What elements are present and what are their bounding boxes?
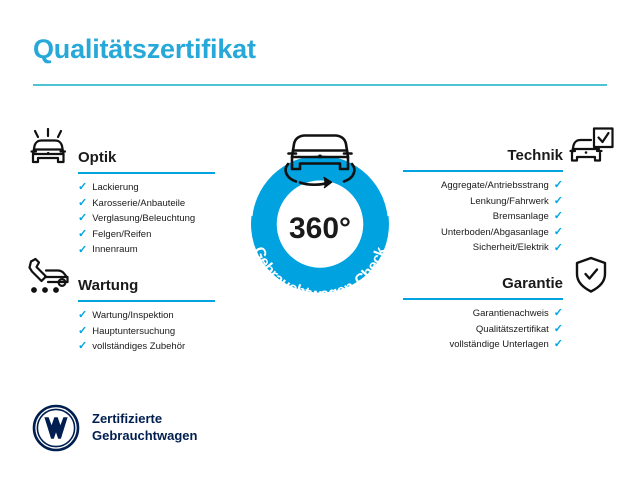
section-garantie-list: Garantienachweis✓ Qualitätszertifikat✓ v… — [415, 306, 615, 353]
list-item-label: Lenkung/Fahrwerk — [470, 197, 549, 207]
check-icon: ✓ — [554, 196, 563, 207]
check-icon: ✓ — [554, 308, 563, 319]
quality-certificate-page: Qualitätszertifikat Optik — [0, 0, 640, 480]
list-item-label: Garantienachweis — [473, 309, 549, 319]
section-optik-title: Optik — [78, 149, 116, 166]
check-icon: ✓ — [78, 229, 87, 240]
vw-certified-lockup: Zertifizierte Gebrauchtwagen — [32, 404, 197, 452]
section-optik: Optik ✓Lackierung ✓Karosserie/Anbauteile… — [25, 128, 225, 258]
check-icon: ✓ — [554, 227, 563, 238]
badge-360-gebrauchtwagen-check: Gebrauchtwagen-Check 360° — [226, 112, 414, 308]
list-item: ✓vollständiges Zubehör — [25, 339, 225, 355]
section-technik-header: Technik — [415, 126, 615, 172]
vw-lockup-text: Zertifizierte Gebrauchtwagen — [92, 411, 197, 444]
car-checkbox-icon — [567, 126, 615, 168]
shield-check-icon — [567, 254, 615, 296]
badge-degrees-label: 360° — [226, 212, 414, 246]
check-icon: ✓ — [554, 324, 563, 335]
section-garantie: Garantie Garantienachweis✓ Qualitätszert… — [415, 254, 615, 353]
list-item: ✓Wartung/Inspektion — [25, 308, 225, 324]
vw-logo-icon — [32, 404, 80, 452]
list-item-label: Bremsanlage — [493, 212, 549, 222]
list-item: ✓Lackierung — [25, 180, 225, 196]
section-optik-header: Optik — [25, 128, 225, 174]
title-divider — [33, 84, 607, 86]
list-item-label: Felgen/Reifen — [92, 230, 151, 240]
list-item: ✓Verglasung/Beleuchtung — [25, 211, 225, 227]
list-item-label: Aggregate/Antriebsstrang — [441, 181, 549, 191]
list-item: Aggregate/Antriebsstrang✓ — [415, 178, 615, 194]
list-item: Bremsanlage✓ — [415, 209, 615, 225]
list-item-label: Lackierung — [92, 183, 138, 193]
check-icon: ✓ — [78, 310, 87, 321]
list-item-label: Qualitätszertifikat — [476, 325, 549, 335]
list-item: vollständige Unterlagen✓ — [415, 337, 615, 353]
check-icon: ✓ — [78, 341, 87, 352]
section-optik-divider — [78, 172, 215, 174]
section-garantie-header: Garantie — [415, 254, 615, 300]
check-icon: ✓ — [78, 326, 87, 337]
check-icon: ✓ — [554, 180, 563, 191]
check-icon: ✓ — [78, 182, 87, 193]
check-icon: ✓ — [554, 243, 563, 254]
list-item: ✓Hauptuntersuchung — [25, 324, 225, 340]
check-icon: ✓ — [78, 245, 87, 256]
list-item-label: Hauptuntersuchung — [92, 327, 175, 337]
section-garantie-title: Garantie — [502, 275, 563, 292]
list-item-label: Verglasung/Beleuchtung — [92, 214, 195, 224]
section-garantie-divider — [403, 298, 563, 300]
list-item: ✓Karosserie/Anbauteile — [25, 196, 225, 212]
list-item: ✓Felgen/Reifen — [25, 227, 225, 243]
list-item-label: Wartung/Inspektion — [92, 311, 174, 321]
check-icon: ✓ — [554, 211, 563, 222]
check-icon: ✓ — [78, 213, 87, 224]
section-optik-list: ✓Lackierung ✓Karosserie/Anbauteile ✓Verg… — [25, 180, 225, 258]
vw-lockup-line1: Zertifizierte — [92, 411, 197, 428]
section-wartung-title: Wartung — [78, 277, 138, 294]
list-item-label: Innenraum — [92, 245, 137, 255]
check-icon: ✓ — [78, 198, 87, 209]
list-item-label: Karosserie/Anbauteile — [92, 199, 185, 209]
section-technik-divider — [403, 170, 563, 172]
section-technik-title: Technik — [507, 147, 563, 164]
list-item: Lenkung/Fahrwerk✓ — [415, 194, 615, 210]
list-item: Qualitätszertifikat✓ — [415, 322, 615, 338]
section-wartung-list: ✓Wartung/Inspektion ✓Hauptuntersuchung ✓… — [25, 308, 225, 355]
wrench-car-icon — [25, 256, 73, 298]
list-item-label: Unterboden/Abgasanlage — [441, 228, 549, 238]
list-item-label: vollständige Unterlagen — [449, 340, 548, 350]
list-item: Unterboden/Abgasanlage✓ — [415, 225, 615, 241]
check-icon: ✓ — [554, 339, 563, 350]
list-item-label: vollständiges Zubehör — [92, 342, 185, 352]
section-technik: Technik Aggregate/Antriebsstrang✓ Lenkun… — [415, 126, 615, 256]
section-wartung-divider — [78, 300, 215, 302]
vw-lockup-line2: Gebrauchtwagen — [92, 428, 197, 445]
section-wartung: Wartung ✓Wartung/Inspektion ✓Hauptunters… — [25, 256, 225, 355]
car-shine-icon — [25, 128, 73, 170]
list-item-label: Sicherheit/Elektrik — [473, 243, 549, 253]
section-wartung-header: Wartung — [25, 256, 225, 302]
page-title: Qualitätszertifikat — [33, 34, 256, 65]
section-technik-list: Aggregate/Antriebsstrang✓ Lenkung/Fahrwe… — [415, 178, 615, 256]
list-item: Garantienachweis✓ — [415, 306, 615, 322]
